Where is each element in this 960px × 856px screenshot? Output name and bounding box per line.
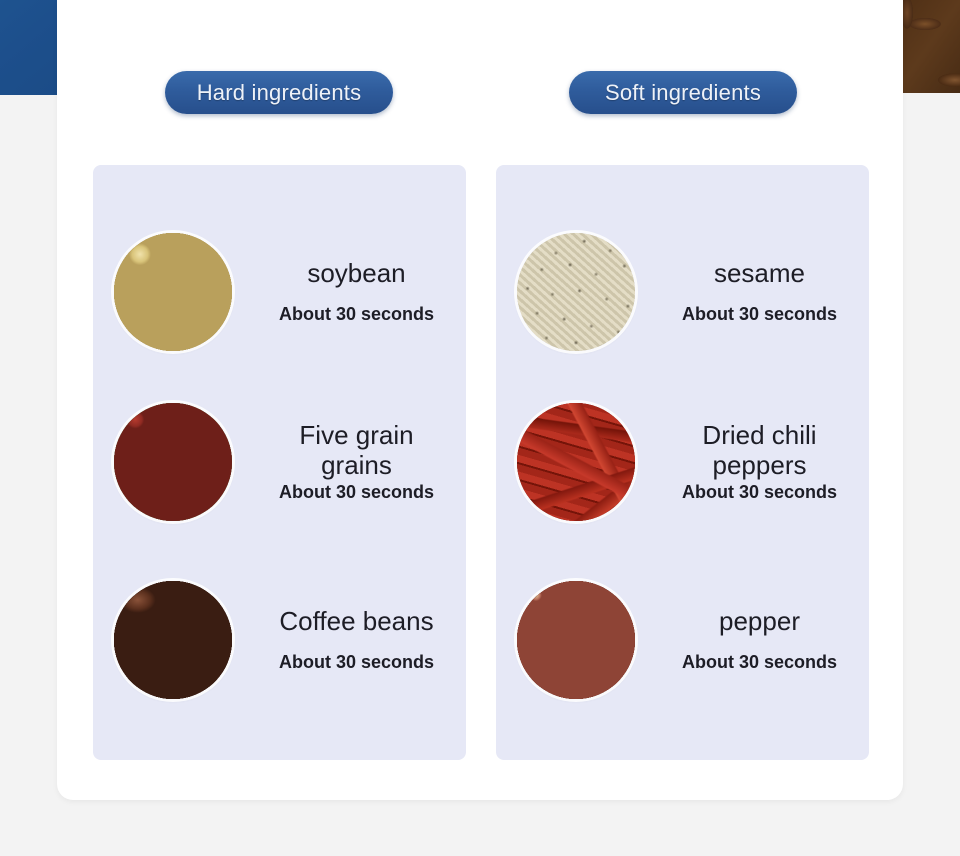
panel-hard-ingredients: soybean About 30 seconds Five grain grai… <box>93 165 466 760</box>
thumb-wrap <box>496 581 656 699</box>
star-anise-photo <box>902 0 960 93</box>
thumb-wrap <box>93 233 253 351</box>
soybean-photo <box>114 233 232 351</box>
soybean-texture <box>114 233 232 351</box>
heading-pill-soft-ingredients[interactable]: Soft ingredients <box>569 71 797 114</box>
ingredient-name: Five grain grains <box>262 421 452 479</box>
panel-soft-ingredients: sesame About 30 seconds Dried chili pepp… <box>496 165 869 760</box>
ingredient-time: About 30 seconds <box>279 482 434 503</box>
row-text: Five grain grains About 30 seconds <box>253 421 466 502</box>
ingredient-name: sesame <box>714 259 805 288</box>
five-grain-photo <box>114 403 232 521</box>
ingredient-time: About 30 seconds <box>682 482 837 503</box>
ingredient-time: About 30 seconds <box>279 304 434 325</box>
ingredient-time: About 30 seconds <box>279 652 434 673</box>
row-text: pepper About 30 seconds <box>656 607 869 673</box>
pepper-texture <box>517 581 635 699</box>
thumb-wrap <box>93 403 253 521</box>
five-grain-texture <box>114 403 232 521</box>
ingredient-name: pepper <box>719 607 800 636</box>
list-item[interactable]: Five grain grains About 30 seconds <box>93 377 466 547</box>
thumb-wrap <box>93 581 253 699</box>
blue-corner-block <box>0 0 57 95</box>
sesame-texture <box>517 233 635 351</box>
ingredient-time: About 30 seconds <box>682 304 837 325</box>
star-anise-texture <box>902 0 960 93</box>
row-text: Dried chili peppers About 30 seconds <box>656 421 869 502</box>
sesame-photo <box>517 233 635 351</box>
list-item[interactable]: pepper About 30 seconds <box>496 555 869 725</box>
heading-pill-hard-ingredients[interactable]: Hard ingredients <box>165 71 393 114</box>
list-item[interactable]: soybean About 30 seconds <box>93 207 466 377</box>
ingredient-name: soybean <box>307 259 405 288</box>
ingredient-grinding-time-page: Hard ingredients Soft ingredients soybea… <box>0 0 960 856</box>
dried-chili-photo <box>517 403 635 521</box>
thumb-wrap <box>496 403 656 521</box>
ingredient-name: Coffee beans <box>279 607 433 636</box>
row-text: sesame About 30 seconds <box>656 259 869 325</box>
coffee-beans-texture <box>114 581 232 699</box>
list-item[interactable]: Coffee beans About 30 seconds <box>93 555 466 725</box>
coffee-beans-photo <box>114 581 232 699</box>
thumb-wrap <box>496 233 656 351</box>
ingredient-name: Dried chili peppers <box>665 421 855 479</box>
pepper-photo <box>517 581 635 699</box>
list-item[interactable]: Dried chili peppers About 30 seconds <box>496 377 869 547</box>
list-item[interactable]: sesame About 30 seconds <box>496 207 869 377</box>
row-text: Coffee beans About 30 seconds <box>253 607 466 673</box>
row-text: soybean About 30 seconds <box>253 259 466 325</box>
dried-chili-texture <box>517 403 635 521</box>
ingredient-time: About 30 seconds <box>682 652 837 673</box>
content-card: Hard ingredients Soft ingredients soybea… <box>57 0 903 800</box>
